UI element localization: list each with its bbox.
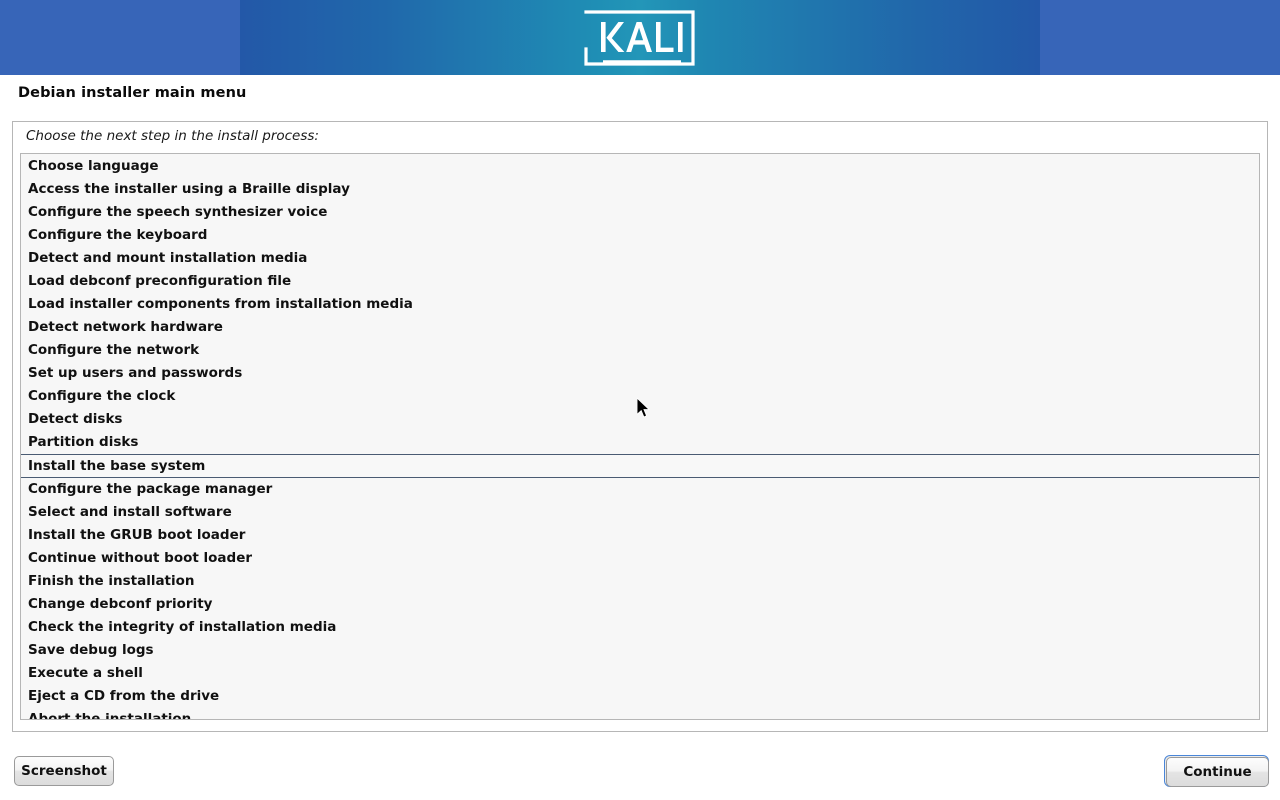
list-item[interactable]: Detect network hardware bbox=[21, 316, 1259, 339]
list-item[interactable]: Save debug logs bbox=[21, 639, 1259, 662]
list-item[interactable]: Detect and mount installation media bbox=[21, 247, 1259, 270]
kali-banner bbox=[0, 0, 1280, 75]
list-item[interactable]: Set up users and passwords bbox=[21, 362, 1259, 385]
list-item[interactable]: Install the base system bbox=[21, 454, 1259, 478]
list-item[interactable]: Abort the installation bbox=[21, 708, 1259, 720]
list-item[interactable]: Install the GRUB boot loader bbox=[21, 524, 1259, 547]
list-item[interactable]: Execute a shell bbox=[21, 662, 1259, 685]
page-title: Debian installer main menu bbox=[18, 85, 246, 101]
list-item[interactable]: Partition disks bbox=[21, 431, 1259, 454]
install-step-list[interactable]: Choose languageAccess the installer usin… bbox=[20, 153, 1260, 720]
list-item[interactable]: Finish the installation bbox=[21, 570, 1259, 593]
prompt-label: Choose the next step in the install proc… bbox=[26, 128, 319, 144]
list-item[interactable]: Change debconf priority bbox=[21, 593, 1259, 616]
kali-linux-logo bbox=[583, 9, 696, 67]
list-item[interactable]: Detect disks bbox=[21, 408, 1259, 431]
list-item[interactable]: Eject a CD from the drive bbox=[21, 685, 1259, 708]
list-item[interactable]: Configure the package manager bbox=[21, 478, 1259, 501]
screenshot-button[interactable]: Screenshot bbox=[14, 756, 114, 786]
list-item[interactable]: Configure the speech synthesizer voice bbox=[21, 201, 1259, 224]
list-item[interactable]: Load debconf preconfiguration file bbox=[21, 270, 1259, 293]
list-item[interactable]: Select and install software bbox=[21, 501, 1259, 524]
list-item[interactable]: Load installer components from installat… bbox=[21, 293, 1259, 316]
list-item[interactable]: Continue without boot loader bbox=[21, 547, 1259, 570]
list-item[interactable]: Choose language bbox=[21, 155, 1259, 178]
continue-button[interactable]: Continue bbox=[1166, 757, 1269, 787]
list-item[interactable]: Configure the clock bbox=[21, 385, 1259, 408]
installer-step-panel: Choose the next step in the install proc… bbox=[12, 121, 1268, 732]
list-item[interactable]: Configure the keyboard bbox=[21, 224, 1259, 247]
list-item[interactable]: Access the installer using a Braille dis… bbox=[21, 178, 1259, 201]
list-item[interactable]: Check the integrity of installation medi… bbox=[21, 616, 1259, 639]
continue-button-focus-ring: Continue bbox=[1164, 755, 1269, 787]
list-item[interactable]: Configure the network bbox=[21, 339, 1259, 362]
